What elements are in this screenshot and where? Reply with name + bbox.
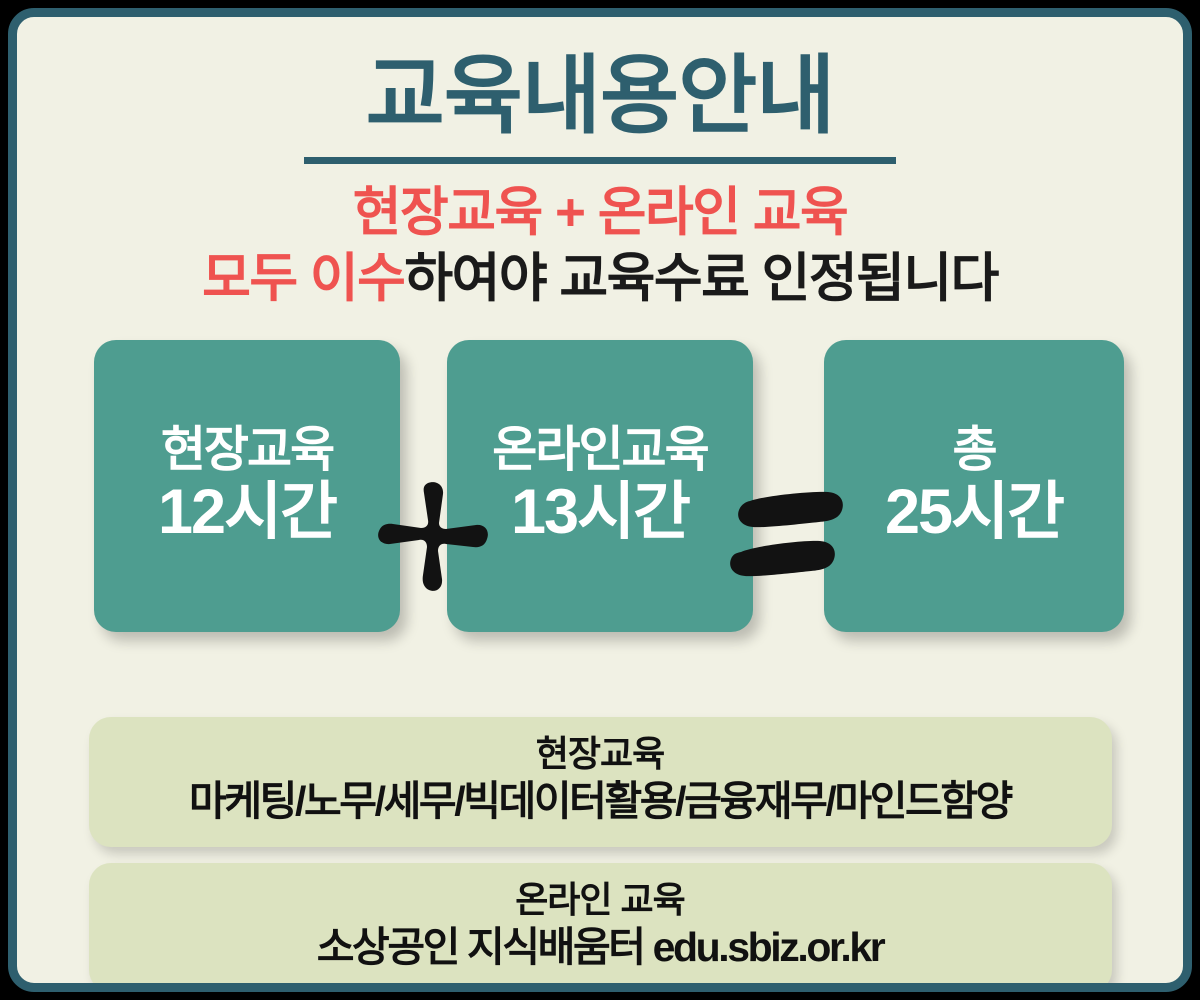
poster-header: 교육내용안내 현장교육 + 온라인 교육 모두 이수하여야 교육수료 인정됩니다 [17,17,1183,312]
subtitle-line-2-accent: 모두 이수 [202,249,404,308]
detail-panels: 현장교육 마케팅/노무/세무/빅데이터활용/금융재무/마인드함양 온라인 교육 … [17,717,1183,992]
onsite-training-hours: 12시간 [158,478,336,546]
onsite-training-box: 현장교육 12시간 [94,340,400,632]
online-detail-panel: 온라인 교육 소상공인 지식배움터 edu.sbiz.or.kr [89,863,1112,992]
online-detail-site: 소상공인 지식배움터 edu.sbiz.or.kr [109,923,1092,972]
poster-root: 교육내용안내 현장교육 + 온라인 교육 모두 이수하여야 교육수료 인정됩니다… [0,0,1200,1000]
total-training-box: 총 25시간 [824,340,1124,632]
poster-frame: 교육내용안내 현장교육 + 온라인 교육 모두 이수하여야 교육수료 인정됩니다… [8,8,1192,992]
subtitle-line-2: 모두 이수하여야 교육수료 인정됩니다 [17,246,1183,312]
onsite-training-label: 현장교육 [161,425,333,476]
subtitle-line-1: 현장교육 + 온라인 교육 [17,180,1183,246]
subtitle-line-1-text: 현장교육 + 온라인 교육 [353,183,847,242]
onsite-detail-heading: 현장교육 [109,733,1092,775]
subtitle-block: 현장교육 + 온라인 교육 모두 이수하여야 교육수료 인정됩니다 [17,180,1183,311]
equation-row: 현장교육 12시간 온라인교육 13시간 총 25시간 [17,340,1183,632]
onsite-detail-subjects: 마케팅/노무/세무/빅데이터활용/금융재무/마인드함양 [109,777,1092,826]
page-title: 교육내용안내 [17,51,1183,141]
total-training-label: 총 [952,425,995,476]
onsite-detail-panel: 현장교육 마케팅/노무/세무/빅데이터활용/금융재무/마인드함양 [89,717,1112,847]
online-training-label: 온라인교육 [492,425,707,476]
online-training-box: 온라인교육 13시간 [447,340,753,632]
subtitle-line-2-rest: 하여야 교육수료 인정됩니다 [404,249,998,308]
online-detail-heading: 온라인 교육 [109,879,1092,921]
total-training-hours: 25시간 [885,478,1063,546]
online-training-hours: 13시간 [511,478,689,546]
title-divider [304,157,896,164]
